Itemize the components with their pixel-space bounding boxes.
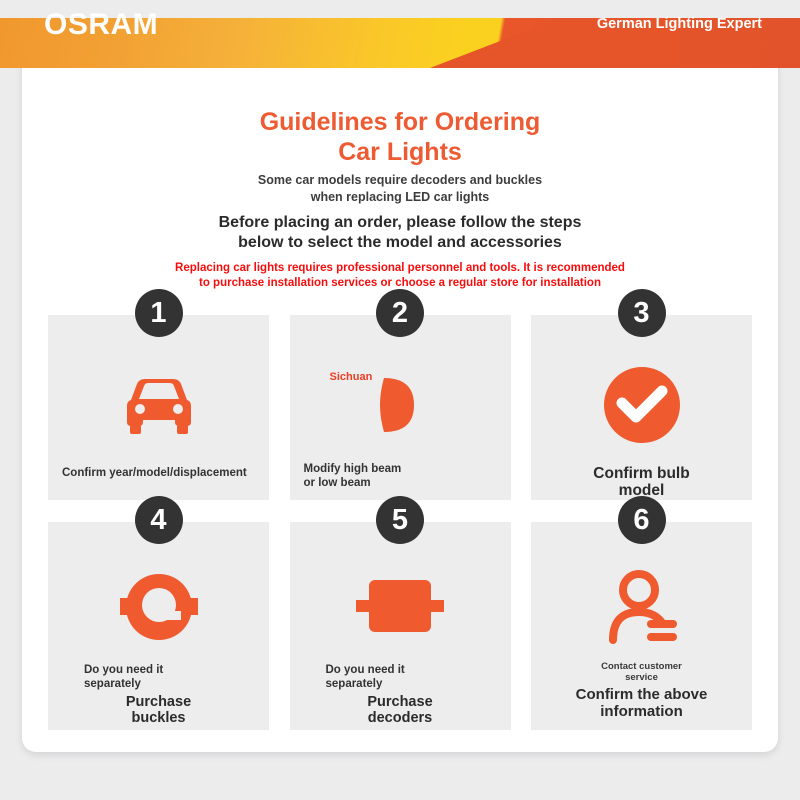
step-caption-small-1: Confirm year/model/displacement bbox=[58, 467, 259, 481]
title-block: Guidelines for Ordering Car Lights bbox=[0, 108, 800, 167]
decoder-box-icon bbox=[354, 576, 446, 638]
buckle-connector-icon bbox=[118, 568, 200, 646]
step-card-6[interactable]: 6 Contact customer service Confirm the a… bbox=[531, 522, 752, 730]
caption-slot-3: Confirm bulb model bbox=[531, 461, 752, 500]
header-tagline: German Lighting Expert bbox=[597, 16, 762, 32]
step-number-badge-2: 2 bbox=[376, 289, 424, 337]
step-number-badge-1: 1 bbox=[135, 289, 183, 337]
step-caption-big-6: Confirm the above information bbox=[541, 687, 742, 721]
steps-grid: 1 Confirm year/model/displacement 2 Sich… bbox=[48, 315, 752, 752]
icon-slot-4 bbox=[48, 552, 269, 662]
icon-slot-1 bbox=[48, 349, 269, 461]
car-front-icon bbox=[117, 370, 201, 440]
step-caption-small-2: Modify high beam or low beam bbox=[300, 463, 501, 491]
step-number-badge-5: 5 bbox=[376, 496, 424, 544]
step-caption-big-5: Purchase decoders bbox=[300, 694, 501, 726]
step-caption-big-4: Purchase buckles bbox=[58, 694, 259, 726]
step-number-badge-3: 3 bbox=[618, 289, 666, 337]
step-card-2[interactable]: 2 Sichuan Modify high beam or low beam bbox=[290, 315, 511, 500]
sichuan-overlay-label: Sichuan bbox=[330, 371, 373, 383]
icon-slot-6 bbox=[531, 552, 752, 662]
steps-row-2: 4 Do you need it separately Purchase buc… bbox=[48, 522, 752, 730]
subtitle-line-1: Some car models require decoders and buc… bbox=[0, 172, 800, 205]
step-card-1[interactable]: 1 Confirm year/model/displacement bbox=[48, 315, 269, 500]
steps-row-1: 1 Confirm year/model/displacement 2 Sich… bbox=[48, 315, 752, 500]
caption-slot-2: Modify high beam or low beam bbox=[290, 461, 511, 500]
icon-slot-5 bbox=[290, 552, 511, 662]
icon-slot-2: Sichuan bbox=[290, 349, 511, 461]
page-title: Guidelines for Ordering Car Lights bbox=[260, 108, 541, 167]
step-number-badge-4: 4 bbox=[135, 496, 183, 544]
warning-text: Replacing car lights requires profession… bbox=[0, 261, 800, 291]
caption-slot-6: Contact customer service Confirm the abo… bbox=[531, 662, 752, 730]
caption-slot-5: Do you need it separately Purchase decod… bbox=[290, 662, 511, 730]
osram-logo: OSRAM bbox=[44, 8, 158, 42]
customer-service-person-icon bbox=[601, 568, 683, 646]
step-caption-big-3: Confirm bulb model bbox=[541, 465, 742, 500]
step-card-5[interactable]: 5 Do you need it separately Purchase dec… bbox=[290, 522, 511, 730]
caption-slot-4: Do you need it separately Purchase buckl… bbox=[48, 662, 269, 730]
icon-slot-3 bbox=[531, 349, 752, 461]
step-caption-small-4: Do you need it separately bbox=[58, 664, 259, 692]
step-caption-small-5: Do you need it separately bbox=[300, 664, 501, 692]
step-number-badge-6: 6 bbox=[618, 496, 666, 544]
step-caption-small-6: Contact customer service bbox=[541, 662, 742, 684]
step-card-3[interactable]: 3 Confirm bulb model bbox=[531, 315, 752, 500]
caption-slot-1: Confirm year/model/displacement bbox=[48, 461, 269, 500]
step-card-4[interactable]: 4 Do you need it separately Purchase buc… bbox=[48, 522, 269, 730]
check-circle-icon bbox=[602, 365, 682, 445]
subtitle-line-2: Before placing an order, please follow t… bbox=[0, 213, 800, 254]
subtitle-block: Some car models require decoders and buc… bbox=[0, 172, 800, 291]
